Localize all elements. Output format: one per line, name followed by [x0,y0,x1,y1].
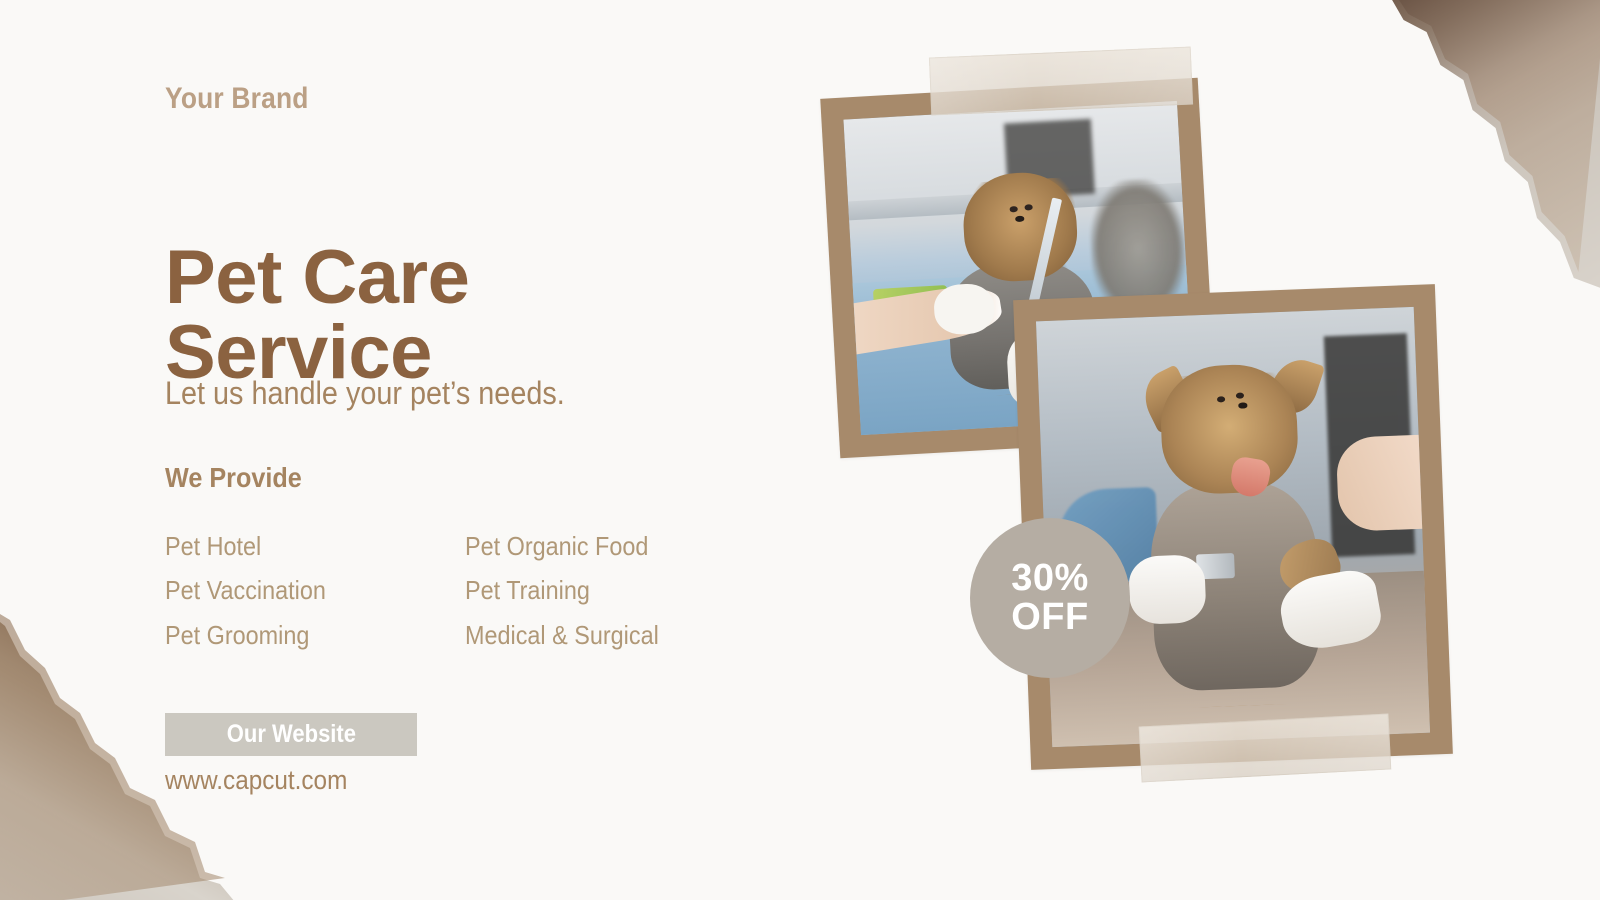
services-list: Pet Hotel Pet Organic Food Pet Vaccinati… [165,530,725,652]
photo-collage: 30% OFF [800,0,1600,900]
washi-tape-bottom [1139,713,1392,782]
discount-off-label: OFF [1011,598,1088,637]
dog-eye [1024,205,1032,211]
list-item: Pet Organic Food [465,530,699,563]
our-website-button-label: Our Website [226,720,355,749]
list-item: Medical & Surgical [465,619,699,652]
headline-line-1: Pet Care [165,235,469,320]
page-title: Pet Care Service [165,165,469,466]
discount-badge[interactable]: 30% OFF [970,518,1130,678]
dog-eye [1010,206,1018,212]
website-url[interactable]: www.capcut.com [165,765,347,796]
dog-nose [1238,403,1248,408]
washi-tape-top [929,47,1193,116]
groomer-glove [1128,554,1206,625]
poster-canvas: Your Brand Pet Care Service Let us handl… [0,0,1600,900]
our-website-button[interactable]: Our Website [165,713,417,756]
photo-image [1036,307,1430,747]
brand-label: Your Brand [165,82,309,116]
list-item: Pet Training [465,574,699,607]
dog-nose [1015,216,1024,222]
tagline: Let us handle your pet’s needs. [165,375,565,412]
dog-eye [1217,396,1225,402]
text-column: Your Brand Pet Care Service Let us handl… [165,0,785,900]
services-heading: We Provide [165,462,302,494]
list-item: Pet Hotel [165,530,435,563]
discount-percent: 30% [1011,559,1089,598]
dog-head [1159,363,1300,496]
list-item: Pet Vaccination [165,574,435,607]
list-item: Pet Grooming [165,619,435,652]
dog-eye [1236,393,1244,399]
groomer-arm [1335,434,1430,531]
